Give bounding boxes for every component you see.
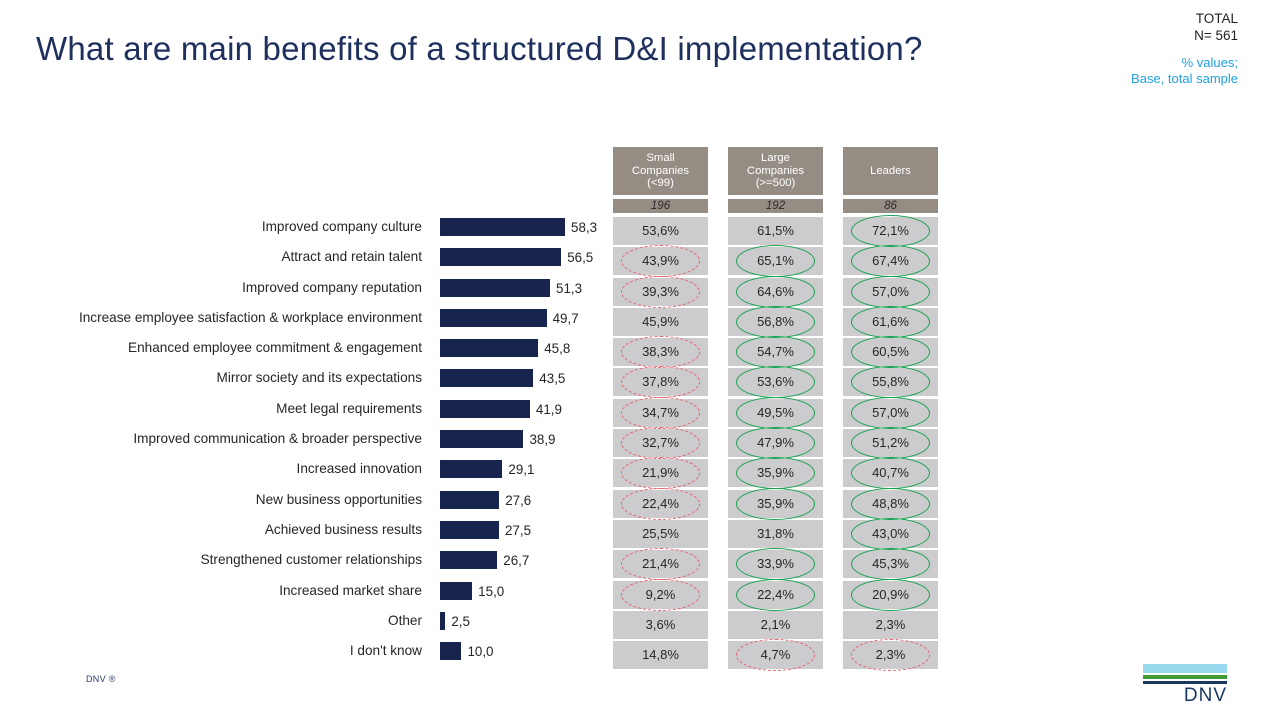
table-cell: 61,6%	[843, 308, 938, 336]
bar-track: 27,5	[440, 521, 559, 539]
table-cell-value: 25,5%	[642, 526, 679, 541]
table-cell: 61,5%	[728, 217, 823, 245]
bar-row: Strengthened customer relationships26,7	[0, 545, 612, 575]
table-cell: 60,5%	[843, 338, 938, 366]
bar-fill	[440, 460, 502, 478]
table-cell: 21,4%	[613, 550, 708, 578]
table-cell: 35,9%	[728, 459, 823, 487]
table-cell-value: 43,0%	[872, 526, 909, 541]
column-header: SmallCompanies(<99)	[613, 147, 708, 195]
bar-track: 26,7	[440, 551, 557, 569]
table-cell-value: 57,0%	[872, 405, 909, 420]
bar-fill	[440, 642, 461, 660]
table-cell: 45,9%	[613, 308, 708, 336]
bar-row: Meet legal requirements41,9	[0, 394, 612, 424]
bar-fill	[440, 582, 472, 600]
table-cell: 37,8%	[613, 368, 708, 396]
table-cell-value: 32,7%	[642, 435, 679, 450]
bar-value-label: 2,5	[445, 612, 470, 630]
bar-category-label: Increased innovation	[10, 454, 430, 484]
values-note-line1: % values;	[978, 55, 1238, 71]
bar-value-label: 56,5	[561, 248, 593, 266]
bar-value-label: 26,7	[497, 551, 529, 569]
table-cell-value: 20,9%	[872, 587, 909, 602]
column-header: Leaders	[843, 147, 938, 195]
bar-track: 2,5	[440, 612, 505, 630]
bar-category-label: Achieved business results	[10, 515, 430, 545]
table-column-large-companies: LargeCompanies(>=500)19261,5%65,1%64,6%5…	[728, 147, 823, 671]
column-header-line: Leaders	[870, 165, 911, 178]
bar-track: 15,0	[440, 582, 532, 600]
column-header: LargeCompanies(>=500)	[728, 147, 823, 195]
table-cell: 3,6%	[613, 611, 708, 639]
table-cell: 49,5%	[728, 399, 823, 427]
table-cell-value: 33,9%	[757, 556, 794, 571]
table-cell: 25,5%	[613, 520, 708, 548]
table-cell: 22,4%	[613, 490, 708, 518]
sample-size-label: N= 561	[978, 27, 1238, 44]
table-cell-value: 35,9%	[757, 496, 794, 511]
bar-value-label: 29,1	[502, 460, 534, 478]
bar-row: Achieved business results27,5	[0, 515, 612, 545]
table-cell: 65,1%	[728, 247, 823, 275]
total-label: TOTAL	[978, 10, 1238, 27]
column-cells: 61,5%65,1%64,6%56,8%54,7%53,6%49,5%47,9%…	[728, 217, 823, 669]
column-header-line: (>=500)	[756, 177, 796, 190]
bar-category-label: Mirror society and its expectations	[10, 363, 430, 393]
values-note-line2: Base, total sample	[978, 71, 1238, 87]
table-cell: 72,1%	[843, 217, 938, 245]
table-cell: 21,9%	[613, 459, 708, 487]
table-cell-value: 2,3%	[876, 617, 906, 632]
bar-category-label: I don't know	[10, 636, 430, 666]
table-cell-value: 2,1%	[761, 617, 791, 632]
table-cell-value: 35,9%	[757, 465, 794, 480]
table-cell-value: 53,6%	[757, 374, 794, 389]
bar-row: Attract and retain talent56,5	[0, 242, 612, 272]
table-cell: 51,2%	[843, 429, 938, 457]
table-cell-value: 65,1%	[757, 253, 794, 268]
table-cell: 38,3%	[613, 338, 708, 366]
bar-fill	[440, 430, 523, 448]
table-cell-value: 64,6%	[757, 284, 794, 299]
table-cell: 34,7%	[613, 399, 708, 427]
bar-chart: Improved company culture58,3Attract and …	[0, 212, 612, 666]
table-cell: 2,1%	[728, 611, 823, 639]
bar-track: 38,9	[440, 430, 583, 448]
slide-canvas: What are main benefits of a structured D…	[0, 0, 1280, 720]
table-cell-value: 67,4%	[872, 253, 909, 268]
sample-meta: TOTAL N= 561 % values; Base, total sampl…	[978, 10, 1238, 87]
bar-category-label: Improved communication & broader perspec…	[10, 424, 430, 454]
table-cell: 14,8%	[613, 641, 708, 669]
table-cell: 54,7%	[728, 338, 823, 366]
table-cell-value: 14,8%	[642, 647, 679, 662]
bar-row: Mirror society and its expectations43,5	[0, 363, 612, 393]
bar-value-label: 27,5	[499, 521, 531, 539]
bar-category-label: Increased market share	[10, 576, 430, 606]
table-cell-value: 34,7%	[642, 405, 679, 420]
column-header-line: Small	[646, 152, 674, 165]
table-cell-value: 51,2%	[872, 435, 909, 450]
table-cell: 64,6%	[728, 278, 823, 306]
bar-row: Enhanced employee commitment & engagemen…	[0, 333, 612, 363]
table-cell: 20,9%	[843, 581, 938, 609]
bar-track: 27,6	[440, 491, 559, 509]
bar-fill	[440, 279, 550, 297]
bar-row: New business opportunities27,6	[0, 485, 612, 515]
bar-row: Increased innovation29,1	[0, 454, 612, 484]
column-sample-size: 192	[728, 199, 823, 213]
table-cell: 2,3%	[843, 641, 938, 669]
table-cell-value: 48,8%	[872, 496, 909, 511]
table-cell: 33,9%	[728, 550, 823, 578]
column-header-line: Companies	[632, 165, 689, 178]
bar-fill	[440, 339, 538, 357]
table-cell: 56,8%	[728, 308, 823, 336]
logo-wordmark: DNV	[1143, 685, 1227, 707]
table-cell-value: 43,9%	[642, 253, 679, 268]
table-cell: 43,9%	[613, 247, 708, 275]
bar-row: Improved company culture58,3	[0, 212, 612, 242]
bar-track: 56,5	[440, 248, 621, 266]
column-header-line: Companies	[747, 165, 804, 178]
bar-fill	[440, 521, 499, 539]
bar-category-label: Meet legal requirements	[10, 394, 430, 424]
bar-track: 10,0	[440, 642, 521, 660]
table-cell: 31,8%	[728, 520, 823, 548]
table-cell: 39,3%	[613, 278, 708, 306]
logo-bar-darkblue	[1143, 681, 1227, 685]
table-cell-value: 72,1%	[872, 223, 909, 238]
table-cell-value: 60,5%	[872, 344, 909, 359]
table-cell-value: 39,3%	[642, 284, 679, 299]
table-column-leaders: Leaders8672,1%67,4%57,0%61,6%60,5%55,8%5…	[843, 147, 938, 671]
bar-category-label: Improved company reputation	[10, 273, 430, 303]
table-cell-value: 22,4%	[757, 587, 794, 602]
column-header-line: (<99)	[647, 177, 674, 190]
table-cell: 9,2%	[613, 581, 708, 609]
table-cell: 57,0%	[843, 278, 938, 306]
column-sample-size: 86	[843, 199, 938, 213]
bar-value-label: 58,3	[565, 218, 597, 236]
bar-value-label: 41,9	[530, 400, 562, 418]
bar-category-label: Attract and retain talent	[10, 242, 430, 272]
bar-track: 51,3	[440, 279, 610, 297]
bar-category-label: New business opportunities	[10, 485, 430, 515]
table-cell: 35,9%	[728, 490, 823, 518]
table-cell: 40,7%	[843, 459, 938, 487]
table-cell: 45,3%	[843, 550, 938, 578]
table-cell-value: 38,3%	[642, 344, 679, 359]
bar-track: 41,9	[440, 400, 590, 418]
table-cell-value: 54,7%	[757, 344, 794, 359]
table-cell: 32,7%	[613, 429, 708, 457]
bar-row: Other2,5	[0, 606, 612, 636]
table-cell-value: 45,9%	[642, 314, 679, 329]
table-cell-value: 49,5%	[757, 405, 794, 420]
table-cell: 2,3%	[843, 611, 938, 639]
bar-track: 49,7	[440, 309, 607, 327]
table-cell-value: 37,8%	[642, 374, 679, 389]
bar-fill	[440, 309, 547, 327]
column-cells: 53,6%43,9%39,3%45,9%38,3%37,8%34,7%32,7%…	[613, 217, 708, 669]
table-cell-value: 45,3%	[872, 556, 909, 571]
bar-row: Increased market share15,0	[0, 576, 612, 606]
table-cell: 57,0%	[843, 399, 938, 427]
table-column-small-companies: SmallCompanies(<99)19653,6%43,9%39,3%45,…	[613, 147, 708, 671]
table-cell-value: 61,6%	[872, 314, 909, 329]
table-cell-value: 31,8%	[757, 526, 794, 541]
bar-category-label: Improved company culture	[10, 212, 430, 242]
table-cell: 48,8%	[843, 490, 938, 518]
table-cell: 53,6%	[728, 368, 823, 396]
bar-fill	[440, 491, 499, 509]
table-cell: 47,9%	[728, 429, 823, 457]
table-cell-value: 57,0%	[872, 284, 909, 299]
table-cell-value: 4,7%	[761, 647, 791, 662]
bar-category-label: Strengthened customer relationships	[10, 545, 430, 575]
table-cell-value: 40,7%	[872, 465, 909, 480]
bar-row: Increase employee satisfaction & workpla…	[0, 303, 612, 333]
bar-value-label: 51,3	[550, 279, 582, 297]
table-cell: 43,0%	[843, 520, 938, 548]
column-sample-size: 196	[613, 199, 708, 213]
table-cell-value: 61,5%	[757, 223, 794, 238]
bar-category-label: Increase employee satisfaction & workpla…	[10, 303, 430, 333]
dnv-logo: DNV	[1143, 664, 1227, 707]
bar-value-label: 27,6	[499, 491, 531, 509]
bar-category-label: Other	[10, 606, 430, 636]
bar-row: Improved company reputation51,3	[0, 273, 612, 303]
table-cell-value: 55,8%	[872, 374, 909, 389]
bar-fill	[440, 218, 565, 236]
bar-fill	[440, 400, 530, 418]
table-cell: 55,8%	[843, 368, 938, 396]
bar-track: 45,8	[440, 339, 598, 357]
bar-fill	[440, 248, 561, 266]
table-cell: 22,4%	[728, 581, 823, 609]
bar-track: 43,5	[440, 369, 593, 387]
bar-fill	[440, 369, 533, 387]
table-cell: 4,7%	[728, 641, 823, 669]
bar-value-label: 45,8	[538, 339, 570, 357]
table-cell-value: 56,8%	[757, 314, 794, 329]
page-title: What are main benefits of a structured D…	[36, 27, 1056, 71]
table-cell: 53,6%	[613, 217, 708, 245]
bar-category-label: Enhanced employee commitment & engagemen…	[10, 333, 430, 363]
column-header-line: Large	[761, 152, 790, 165]
bar-fill	[440, 551, 497, 569]
footer-copyright: DNV ®	[86, 674, 116, 684]
bar-value-label: 10,0	[461, 642, 493, 660]
table-cell-value: 53,6%	[642, 223, 679, 238]
bar-row: I don't know10,0	[0, 636, 612, 666]
table-cell-value: 47,9%	[757, 435, 794, 450]
table-cell: 67,4%	[843, 247, 938, 275]
bar-value-label: 38,9	[523, 430, 555, 448]
logo-bar-lightblue	[1143, 664, 1227, 673]
table-cell-value: 2,3%	[876, 647, 906, 662]
bar-value-label: 15,0	[472, 582, 504, 600]
bar-value-label: 49,7	[547, 309, 579, 327]
table-cell-value: 3,6%	[646, 617, 676, 632]
table-cell-value: 21,4%	[642, 556, 679, 571]
bar-track: 29,1	[440, 460, 562, 478]
bar-value-label: 43,5	[533, 369, 565, 387]
table-cell-value: 21,9%	[642, 465, 679, 480]
column-cells: 72,1%67,4%57,0%61,6%60,5%55,8%57,0%51,2%…	[843, 217, 938, 669]
bar-row: Improved communication & broader perspec…	[0, 424, 612, 454]
bar-track: 58,3	[440, 218, 625, 236]
table-cell-value: 9,2%	[646, 587, 676, 602]
logo-bar-green	[1143, 675, 1227, 679]
table-cell-value: 22,4%	[642, 496, 679, 511]
